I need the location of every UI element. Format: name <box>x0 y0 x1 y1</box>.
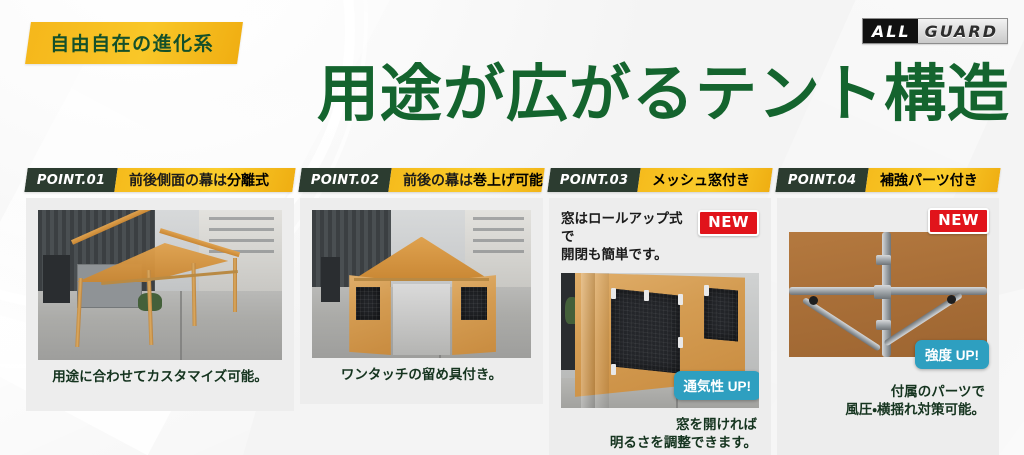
point-number-02: POINT.02 <box>298 168 392 192</box>
point-tag-02: POINT.02 前後の幕は巻上げ可能 <box>298 168 544 192</box>
joint-collar-center <box>874 285 891 299</box>
point-panel-01: 用途に合わせてカスタマイズ可能。 <box>26 198 294 411</box>
point-title-strong-04: 補強パーツ付き <box>880 172 978 188</box>
point-panel-02: ワンタッチの留め具付き。 <box>300 198 543 404</box>
point-photo-01 <box>38 210 282 360</box>
clamp-left <box>809 296 818 305</box>
new-badge-04: NEW <box>928 208 989 234</box>
point-lead-line2-03: 開閉も簡単です。 <box>561 246 692 264</box>
photo-building <box>199 210 282 293</box>
joint-collar-bottom <box>876 320 891 330</box>
page-title: 用途が広がるテント構造 <box>0 63 1010 125</box>
ventilation-up-badge: 通気性 UP! <box>674 371 760 400</box>
point-panel-03: 窓はロールアップ式で 開閉も簡単です。 NEW <box>549 198 771 455</box>
window-clip-6 <box>704 285 709 296</box>
point-title-plain-02: 前後の幕は <box>403 172 473 188</box>
fabric-fold-1 <box>581 273 595 408</box>
tent-leg-3 <box>191 262 196 325</box>
point-lead-line1-03: 窓はロールアップ式で <box>561 210 692 246</box>
point-title-02: 前後の幕は巻上げ可能 <box>389 168 545 192</box>
point-lead-03: 窓はロールアップ式で 開閉も簡単です。 NEW <box>561 210 759 265</box>
strength-up-badge: 強度 UP! <box>915 340 989 369</box>
point-caption-line2-03: 明るさを調整できます。 <box>561 434 757 452</box>
logo-text-all: ALL <box>863 19 918 43</box>
tent-window-left <box>356 287 380 320</box>
point-card-01: POINT.01 前後側面の幕は分離式 <box>26 168 294 411</box>
point-caption-04: 付属のパーツで 風圧・横揺れ対策可能。 <box>789 383 987 419</box>
point-caption-line1-04: 付属のパーツで <box>789 383 985 401</box>
allguard-logo: ALL GUARD <box>862 18 1008 44</box>
point-photo-04: 強度 UP! <box>789 232 987 357</box>
kicker-badge: 自由自在の進化系 <box>25 22 243 64</box>
point-caption-03: 窓を開ければ 明るさを調整できます。 <box>561 416 759 452</box>
point-photo-02 <box>312 210 531 358</box>
point-title-04: 補強パーツ付き <box>866 168 1001 192</box>
page-background: 自由自在の進化系 ALL GUARD 用途が広がるテント構造 POINT.01 … <box>0 0 1024 455</box>
point-title-strong-03: メッシュ窓付き <box>652 172 750 188</box>
brace-left <box>802 297 882 352</box>
point-photo-03: 通気性 UP! <box>561 273 759 408</box>
tent-crossbeam <box>354 278 490 281</box>
fabric-fold-2 <box>595 273 609 408</box>
tent-window-right <box>461 287 487 320</box>
point-card-04: POINT.04 補強パーツ付き NEW <box>777 168 999 455</box>
points-row: POINT.01 前後側面の幕は分離式 <box>0 168 1024 455</box>
point-number-01: POINT.01 <box>24 168 118 192</box>
point-title-01: 前後側面の幕は分離式 <box>115 168 296 192</box>
point-caption-line1-03: 窓を開ければ <box>561 416 757 434</box>
point-title-strong-01: 分離式 <box>227 172 269 188</box>
photo-doorway <box>43 255 70 303</box>
kicker-label: 自由自在の進化系 <box>50 29 214 56</box>
window-clip-4 <box>678 337 683 348</box>
point-title-03: メッシュ窓付き <box>638 168 773 192</box>
window-clip-5 <box>611 364 616 375</box>
point-title-plain-01: 前後側面の幕は <box>129 172 227 188</box>
point-panel-04: NEW 強度 UP! <box>777 198 999 455</box>
window-clip-3 <box>678 294 683 305</box>
tent-leg-4 <box>233 258 237 312</box>
point-caption-01: 用途に合わせてカスタマイズ可能。 <box>38 368 282 386</box>
photo-doorway <box>321 257 341 301</box>
point-lead-text-03: 窓はロールアップ式で 開閉も簡単です。 <box>561 210 692 265</box>
logo-text-guard: GUARD <box>918 19 1007 43</box>
point-title-strong-02: 巻上げ可能 <box>473 172 543 188</box>
point-tag-01: POINT.01 前後側面の幕は分離式 <box>24 168 295 192</box>
joint-collar-top <box>876 255 891 265</box>
point-caption-02: ワンタッチの留め具付き。 <box>312 366 531 384</box>
clamp-right <box>947 295 956 304</box>
point-tag-04: POINT.04 補強パーツ付き <box>775 168 1000 192</box>
point-card-03: POINT.03 メッシュ窓付き 窓はロールアップ式で 開閉も簡単です。 NEW <box>549 168 771 455</box>
new-badge-03: NEW <box>698 210 759 236</box>
mesh-window-small <box>704 287 738 341</box>
window-clip-1 <box>611 288 616 299</box>
point-number-04: POINT.04 <box>775 168 869 192</box>
point-card-02: POINT.02 前後の幕は巻上げ可能 <box>300 168 543 404</box>
point-tag-03: POINT.03 メッシュ窓付き <box>547 168 772 192</box>
frame-assembly <box>789 232 987 357</box>
point-caption-line2-04: 風圧・横揺れ対策可能。 <box>789 401 985 419</box>
point-number-03: POINT.03 <box>547 168 641 192</box>
window-clip-2 <box>644 290 649 301</box>
photo-open-end <box>393 284 450 355</box>
